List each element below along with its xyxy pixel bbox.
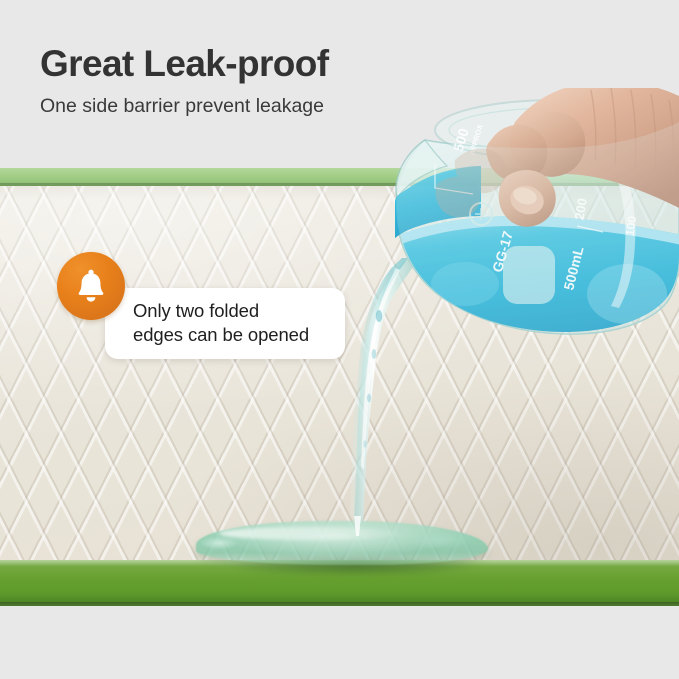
page-title: Great Leak-proof [40, 40, 480, 88]
stream-fleck [372, 349, 377, 359]
stream-fleck [367, 394, 371, 403]
notification-badge [57, 252, 125, 320]
bell-icon [74, 268, 108, 304]
callout-line-1: Only two folded [133, 299, 331, 323]
callout-box: Only two folded edges can be opened [105, 288, 345, 359]
stream-fleck [363, 440, 366, 447]
mat-bottom-edge-band [0, 560, 679, 606]
product-marketing-image: Great Leak-proof One side barrier preven… [0, 0, 679, 679]
beaker-glass-overlay [396, 122, 679, 334]
puddle-splash-left [192, 535, 246, 551]
beaker-with-hand: 500 APPROX 300 200 100 500mL GG-17 [395, 88, 679, 338]
page-subtitle: One side barrier prevent leakage [40, 91, 480, 121]
header-text-block: Great Leak-proof One side barrier preven… [40, 40, 480, 121]
stream-fleck [376, 310, 382, 322]
callout-line-2: edges can be opened [133, 323, 331, 347]
stream-impact-tip [354, 516, 361, 536]
